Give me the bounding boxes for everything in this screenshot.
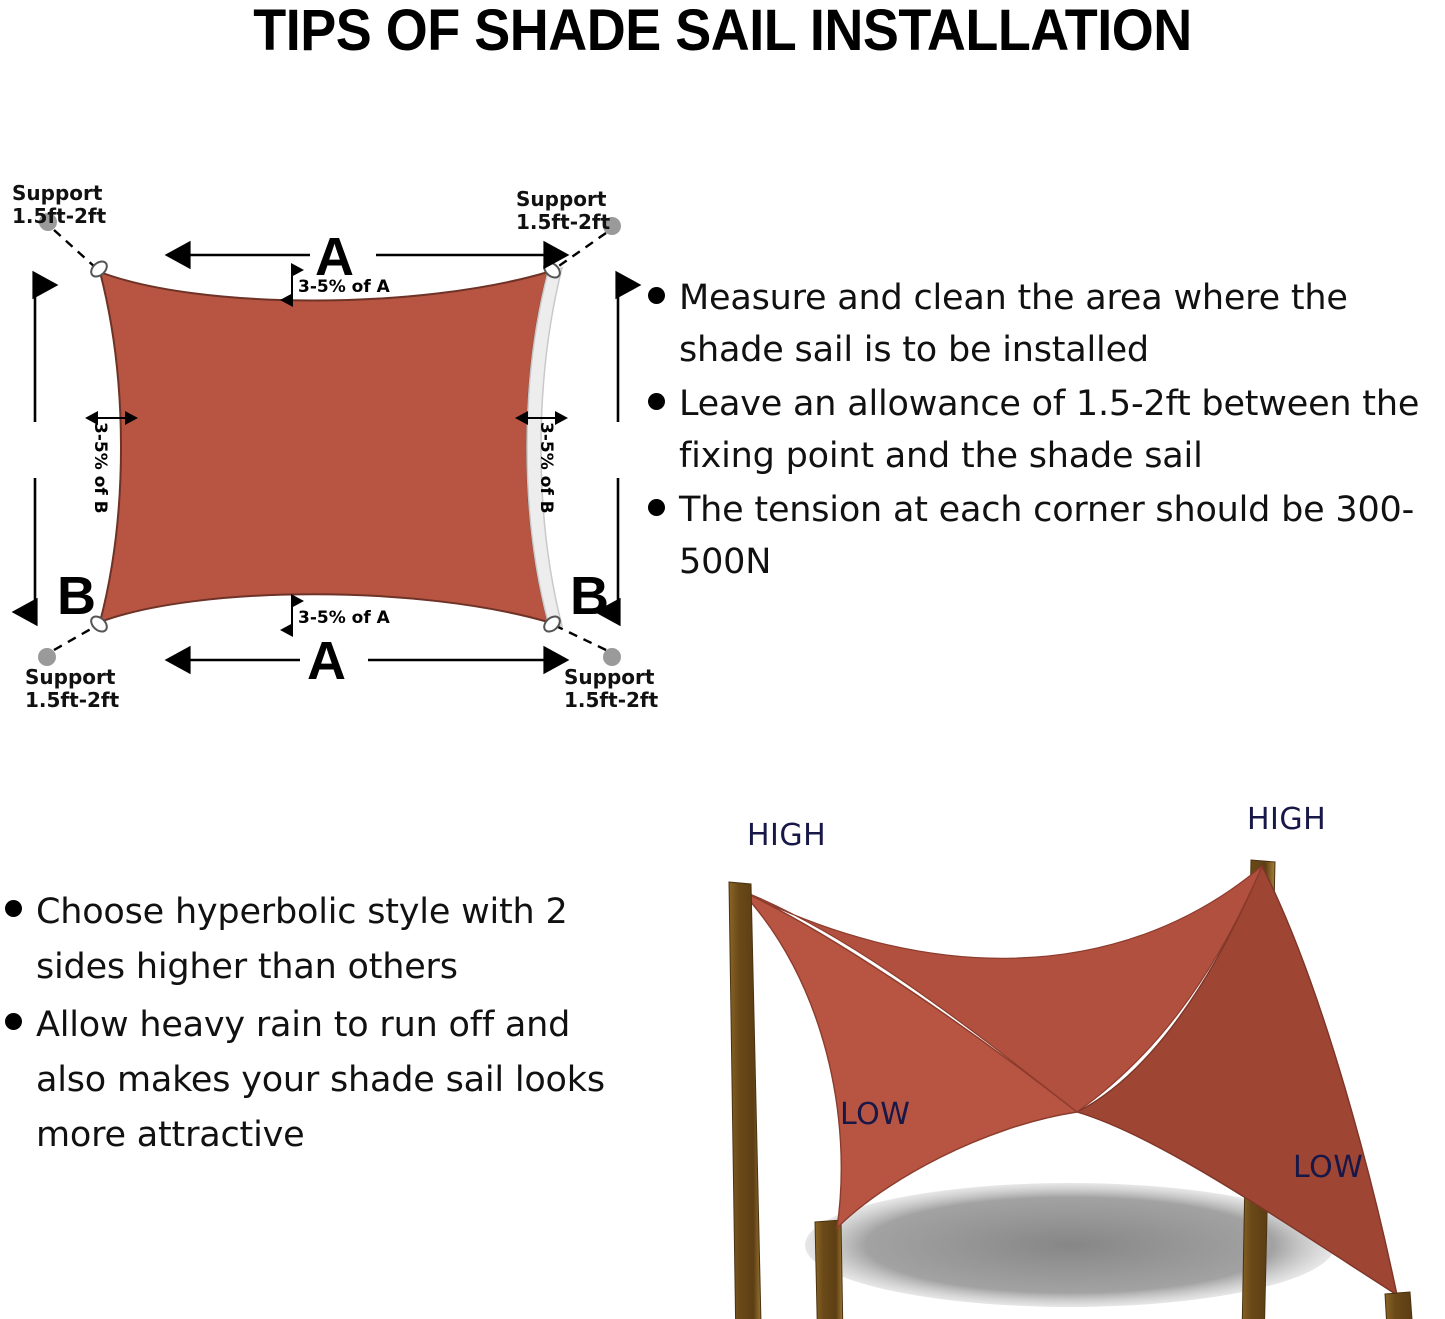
- curve-depth-label-a-top: 3-5% of A: [298, 277, 390, 297]
- page-title: TIPS OF SHADE SAIL INSTALLATION: [51, 0, 1395, 62]
- installation-tips-list: Measure and clean the area where the sha…: [648, 272, 1445, 590]
- dimension-label-a-bottom: A: [307, 634, 346, 688]
- list-item: The tension at each corner should be 300…: [648, 484, 1445, 588]
- hyperbolic-style-tips-list: Choose hyperbolic style with 2 sides hig…: [5, 885, 625, 1166]
- list-item-label: Measure and clean the area where the sha…: [679, 272, 1445, 376]
- bullet-dot-icon: [648, 287, 665, 304]
- dimension-label-a-top: A: [315, 230, 354, 284]
- post-label-low-left: LOW: [840, 1097, 910, 1132]
- hyperbolic-sail-diagram: HIGH HIGH LOW LOW: [685, 790, 1445, 1319]
- support-dot-bottom-left: [38, 648, 56, 666]
- support-label-bottom-left: Support 1.5ft-2ft: [25, 666, 119, 712]
- tie-line-bottom-left: [54, 626, 96, 650]
- post-label-high-left: HIGH: [747, 818, 826, 853]
- support-label-line1: Support: [516, 188, 610, 211]
- dimension-label-b-left: B: [57, 569, 96, 623]
- bullet-dot-icon: [5, 900, 22, 917]
- support-label-line2: 1.5ft-2ft: [516, 211, 610, 234]
- support-label-line2: 1.5ft-2ft: [564, 689, 658, 712]
- list-item-label: Choose hyperbolic style with 2 sides hig…: [36, 885, 625, 995]
- support-label-line1: Support: [564, 666, 658, 689]
- support-label-top-left: Support 1.5ft-2ft: [12, 182, 106, 228]
- curve-depth-label-b-left: 3-5% of B: [90, 422, 110, 514]
- curve-depth-label-a-bottom: 3-5% of A: [298, 608, 390, 628]
- support-label-bottom-right: Support 1.5ft-2ft: [564, 666, 658, 712]
- bullet-dot-icon: [648, 393, 665, 410]
- tie-line-top-right: [556, 233, 606, 268]
- hyper-sail-svg: [685, 790, 1445, 1319]
- support-label-top-right: Support 1.5ft-2ft: [516, 188, 610, 234]
- list-item: Allow heavy rain to run off and also mak…: [5, 998, 625, 1163]
- bullet-dot-icon: [5, 1013, 22, 1030]
- support-label-line1: Support: [12, 182, 106, 205]
- post-low-left: [815, 1220, 844, 1319]
- tie-line-top-left: [54, 230, 96, 268]
- dimension-label-b-right: B: [570, 569, 609, 623]
- support-label-line2: 1.5ft-2ft: [25, 689, 119, 712]
- support-label-line1: Support: [25, 666, 119, 689]
- post-label-low-right: LOW: [1293, 1150, 1363, 1185]
- list-item-label: Allow heavy rain to run off and also mak…: [36, 998, 625, 1163]
- tie-line-bottom-right: [556, 626, 606, 650]
- list-item: Leave an allowance of 1.5-2ft between th…: [648, 378, 1445, 482]
- sail-shape-rect: [100, 272, 548, 622]
- rectangular-sail-diagram: Support 1.5ft-2ft Support 1.5ft-2ft Supp…: [0, 160, 660, 730]
- list-item-label: The tension at each corner should be 300…: [679, 484, 1445, 588]
- list-item: Choose hyperbolic style with 2 sides hig…: [5, 885, 625, 995]
- support-dot-bottom-right: [603, 648, 621, 666]
- bullet-dot-icon: [648, 499, 665, 516]
- post-high-left: [729, 882, 763, 1319]
- list-item: Measure and clean the area where the sha…: [648, 272, 1445, 376]
- post-label-high-right: HIGH: [1247, 802, 1326, 837]
- support-label-line2: 1.5ft-2ft: [12, 205, 106, 228]
- post-low-right: [1385, 1292, 1420, 1319]
- curve-depth-label-b-right: 3-5% of B: [536, 422, 556, 514]
- list-item-label: Leave an allowance of 1.5-2ft between th…: [679, 378, 1445, 482]
